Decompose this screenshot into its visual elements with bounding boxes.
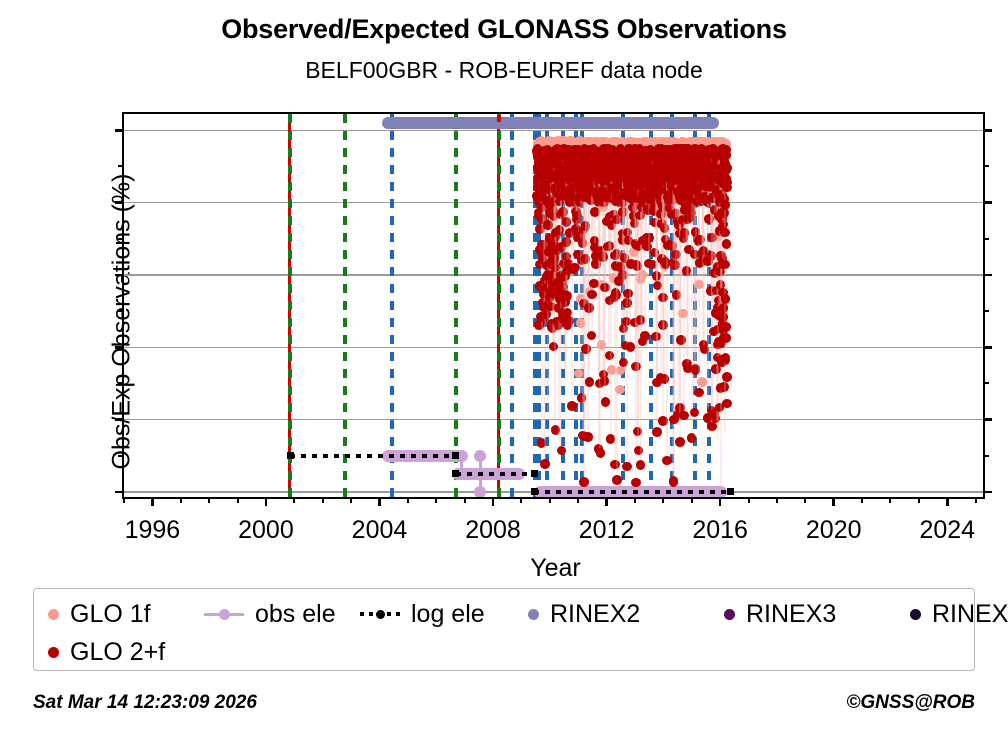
legend-label: log ele: [411, 600, 485, 629]
y-tick: [115, 418, 124, 421]
x-tick-minor: [350, 497, 352, 503]
x-axis-label: Year: [124, 554, 987, 583]
log-ele-node: [531, 488, 538, 495]
legend-marker-dotted-line: [360, 612, 400, 616]
legend-rinex4[interactable]: RINEX4: [910, 595, 1008, 633]
legend-label: obs ele: [255, 600, 336, 629]
x-tick: [378, 497, 381, 506]
log-ele-segment: [534, 490, 730, 494]
data-point-glo2f: [721, 353, 731, 363]
y-tick: [983, 201, 992, 204]
data-point-glo2f: [720, 228, 730, 238]
x-tick-label: 2024: [887, 516, 1007, 545]
log-ele-node: [452, 452, 459, 459]
y-tick: [983, 418, 992, 421]
data-point-glo2f: [567, 401, 577, 411]
x-tick-minor: [549, 497, 551, 503]
y-tick-minor: [983, 382, 989, 384]
legend-label: RINEX2: [550, 600, 640, 629]
data-point-glo2f: [690, 408, 700, 418]
data-point-glo2f: [720, 200, 730, 210]
x-tick-minor: [180, 497, 182, 503]
data-point-glo2f: [587, 331, 597, 341]
legend-rinex2[interactable]: RINEX2: [528, 595, 640, 633]
legend-label: GLO 1f: [70, 600, 151, 629]
data-point-glo2f: [722, 239, 732, 249]
data-point-glo2f: [587, 290, 597, 300]
x-tick-minor: [237, 497, 239, 503]
chart-subtitle: BELF00GBR - ROB-EUREF data node: [0, 57, 1008, 84]
plot-canvas: Now: [124, 114, 983, 497]
x-tick-minor: [776, 497, 778, 503]
legend-rinex3[interactable]: RINEX3: [724, 595, 836, 633]
x-tick-minor: [861, 497, 863, 503]
legend-marker-dot: [724, 609, 735, 620]
y-tick: [115, 129, 124, 132]
x-tick-minor: [918, 497, 920, 503]
x-tick-minor: [804, 497, 806, 503]
y-tick: [983, 491, 992, 494]
data-point-glo2f: [652, 427, 662, 437]
legend-row: GLO 2+f: [34, 633, 974, 671]
y-tick: [983, 274, 992, 277]
data-point-glo2f: [707, 422, 717, 432]
x-tick: [151, 497, 154, 506]
y-tick-minor: [983, 165, 989, 167]
x-tick-minor: [293, 497, 295, 503]
data-point-glo2f: [557, 446, 567, 456]
legend-row: GLO 1fobs elelog eleRINEX2RINEX3RINEX4: [34, 595, 974, 633]
x-tick-label: 2020: [774, 516, 894, 545]
data-point-glo2f: [585, 377, 595, 387]
data-point-glo2f: [721, 294, 731, 304]
log-ele-node: [452, 470, 459, 477]
x-tick-minor: [634, 497, 636, 503]
event-vline-antenna-change: [454, 114, 458, 497]
x-tick-label: 2000: [206, 516, 326, 545]
legend: GLO 1fobs elelog eleRINEX2RINEX3RINEX4GL…: [33, 588, 975, 671]
data-point-glo2f: [722, 150, 732, 160]
legend-log-ele[interactable]: log ele: [360, 595, 485, 633]
data-point-glo2f: [675, 437, 685, 447]
x-tick: [265, 497, 268, 506]
y-tick: [115, 346, 124, 349]
credit-label: ©GNSS@ROB: [846, 692, 975, 714]
data-point-glo2f: [722, 163, 732, 173]
data-point-glo2f: [721, 333, 731, 343]
data-point-glo2f: [596, 448, 606, 458]
data-point-glo2f: [612, 475, 622, 485]
x-tick-minor: [577, 497, 579, 503]
x-tick-minor: [691, 497, 693, 503]
data-point-glo2f: [583, 432, 593, 442]
legend-marker-dot: [48, 609, 59, 620]
x-tick-minor: [208, 497, 210, 503]
data-point-glo2f: [722, 183, 732, 193]
data-point-glo2f: [722, 372, 732, 382]
data-point-glo2f: [662, 456, 672, 466]
log-ele-node: [531, 470, 538, 477]
x-tick: [719, 497, 722, 506]
x-tick-minor: [975, 497, 977, 503]
x-tick-minor: [662, 497, 664, 503]
y-tick-minor: [983, 455, 989, 457]
legend-marker-dot: [528, 609, 539, 620]
legend-glo-1f[interactable]: GLO 1f: [48, 595, 151, 633]
plot-area: Obs/Exp Observations (%) Year 0204060801…: [122, 112, 985, 499]
y-tick: [115, 274, 124, 277]
x-tick: [946, 497, 949, 506]
x-tick-label: 2008: [433, 516, 553, 545]
data-point-glo2f: [634, 446, 644, 456]
data-point-glo2f: [631, 478, 641, 488]
log-ele-node: [287, 452, 294, 459]
y-tick: [983, 346, 992, 349]
x-tick-minor: [748, 497, 750, 503]
data-point-glo2f: [622, 462, 632, 472]
legend-marker-dot: [910, 609, 921, 620]
legend-marker-line: [204, 613, 244, 616]
event-vline-antenna-change: [288, 114, 292, 497]
y-tick-minor: [983, 238, 989, 240]
rinex2-band: [382, 117, 718, 129]
x-tick-minor: [464, 497, 466, 503]
data-point-glo2f: [721, 260, 731, 270]
legend-marker-dot: [219, 609, 230, 620]
x-tick-minor: [123, 497, 125, 503]
x-tick-minor: [435, 497, 437, 503]
data-point-glo2f: [640, 331, 650, 341]
legend-label: GLO 2+f: [70, 638, 165, 667]
event-vline-antenna-change: [343, 114, 347, 497]
legend-label: RINEX4: [932, 600, 1008, 629]
data-point-glo2f: [636, 460, 646, 470]
legend-glo-2f[interactable]: GLO 2+f: [48, 633, 165, 671]
y-tick-minor: [983, 310, 989, 312]
y-tick: [115, 491, 124, 494]
x-tick-label: 2016: [660, 516, 780, 545]
data-point-glo2f: [540, 459, 550, 469]
data-point-glo2f: [718, 312, 728, 322]
data-point-glo2f: [694, 388, 704, 398]
x-tick-label: 2012: [547, 516, 667, 545]
legend-marker-dot: [376, 610, 385, 619]
x-tick: [832, 497, 835, 506]
x-tick-minor: [322, 497, 324, 503]
event-vline-firmware-change: [390, 114, 394, 497]
page-title: Observed/Expected GLONASS Observations: [0, 14, 1008, 45]
event-vline-antenna-change: [497, 114, 501, 497]
log-ele-segment: [290, 454, 456, 458]
legend-obs-ele[interactable]: obs ele: [204, 595, 336, 633]
data-point-glo2f: [721, 322, 731, 332]
event-vline-firmware-change: [510, 114, 514, 497]
x-tick-minor: [889, 497, 891, 503]
y-tick: [983, 129, 992, 132]
data-point-glo2f: [623, 289, 633, 299]
data-point-glo2f: [610, 460, 620, 470]
data-point-glo2f: [626, 342, 636, 352]
legend-marker-dot: [48, 647, 59, 658]
data-point-glo2f: [579, 477, 589, 487]
data-point-glo2f: [722, 399, 732, 409]
timestamp-label: Sat Mar 14 12:23:09 2026: [33, 692, 257, 714]
x-tick: [605, 497, 608, 506]
x-tick-minor: [407, 497, 409, 503]
x-tick-label: 2004: [319, 516, 439, 545]
x-tick: [492, 497, 495, 506]
rinex2-band-marker: [497, 115, 501, 122]
y-tick: [115, 201, 124, 204]
gridline: [124, 130, 983, 132]
log-ele-node: [727, 488, 734, 495]
log-ele-segment: [456, 472, 535, 476]
legend-label: RINEX3: [746, 600, 836, 629]
x-tick-label: 1996: [92, 516, 212, 545]
x-tick-minor: [520, 497, 522, 503]
